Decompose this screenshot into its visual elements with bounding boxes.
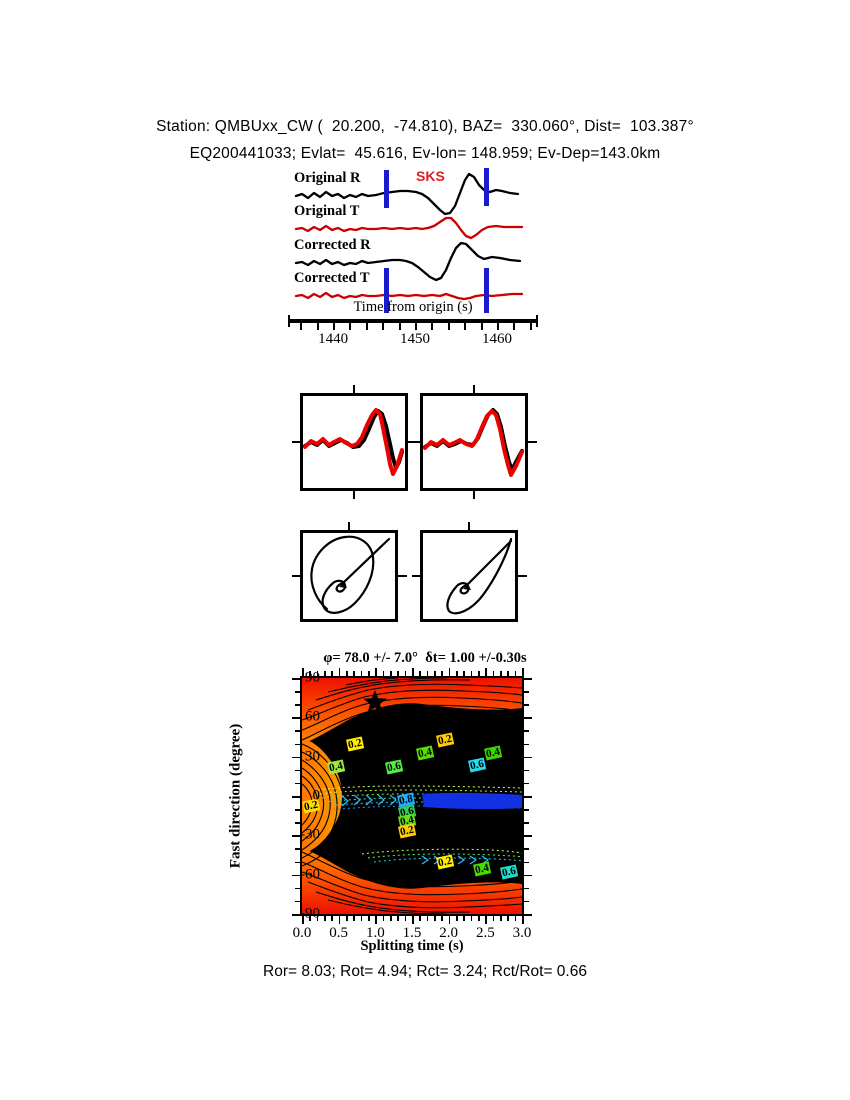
comparison-panel-left [300, 393, 408, 491]
contour-x-tick [390, 916, 392, 921]
comparison-tick-right-s [473, 490, 475, 499]
time-axis-tick [382, 323, 384, 330]
contour-y-tick-label: 0 [313, 788, 321, 805]
comparison-panel-right [420, 393, 528, 491]
contour-x-tick-top [427, 671, 429, 676]
time-axis-tick [333, 323, 335, 330]
contour-x-tick [463, 916, 465, 921]
contour-y-tick-right [524, 796, 532, 798]
hodogram-corrected [423, 533, 515, 619]
time-axis-tick [431, 323, 433, 330]
contour-x-tick-top [463, 671, 465, 676]
contour-y-tick [292, 757, 300, 759]
contour-y-tick-right [524, 862, 529, 864]
contour-x-tick-top [324, 671, 326, 676]
contour-y-tick-label: -30 [300, 827, 320, 844]
time-axis-cap-left [288, 315, 290, 327]
particle-motion-panel-corrected [420, 530, 518, 622]
hodogram-tick-right-e [518, 575, 527, 577]
contour-y-tick-right [524, 848, 529, 850]
comparison-tick-left-n [353, 385, 355, 394]
contour-y-tick-right [524, 835, 532, 837]
contour-y-tick [295, 744, 300, 746]
time-axis-tick [497, 323, 499, 330]
contour-x-tick-top [383, 671, 385, 676]
contour-y-tick-label: 90 [305, 670, 320, 687]
trace-label-original-t: Original T [294, 203, 359, 220]
contour-x-tick-top [331, 671, 333, 676]
time-axis-tick-label: 1450 [400, 331, 430, 348]
contour-x-tick [339, 916, 341, 924]
contour-x-tick [383, 916, 385, 921]
time-axis-tick [415, 323, 417, 330]
contour-plot-frame: 0.20.20.40.40.60.60.40.20.80.60.40.20.20… [300, 676, 524, 916]
contour-x-tick [485, 916, 487, 924]
contour-y-tick-right [524, 704, 529, 706]
figure-page: Station: QMBUxx_CW ( 20.200, -74.810), B… [0, 0, 850, 1100]
comparison-tick-right-n [473, 385, 475, 394]
contour-y-tick-right [524, 691, 529, 693]
contour-x-tick [434, 916, 436, 921]
time-axis-tick [530, 323, 532, 330]
contour-y-tick [295, 901, 300, 903]
contour-x-tick-top [456, 671, 458, 676]
contour-x-tick-top [361, 671, 363, 676]
contour-x-tick-label: 2.5 [476, 925, 495, 942]
contour-x-tick-top [390, 671, 392, 676]
contour-x-tick-label: 3.0 [513, 925, 532, 942]
contour-x-tick [456, 916, 458, 921]
time-axis-tick [349, 323, 351, 330]
contour-x-tick-top [471, 671, 473, 676]
comparison-tick-right-e [528, 441, 537, 443]
contour-x-tick-top [368, 671, 370, 676]
sks-phase-label: SKS [416, 168, 445, 184]
contour-y-tick-right [524, 770, 529, 772]
contour-x-tick-top [507, 671, 509, 676]
contour-x-tick-top [375, 668, 377, 676]
contour-y-tick [292, 796, 300, 798]
contour-x-tick [412, 916, 414, 924]
contour-y-tick-right [524, 730, 529, 732]
contour-y-tick-label: -60 [300, 866, 320, 883]
contour-y-tick-right [524, 809, 529, 811]
contour-y-tick [292, 914, 300, 916]
contour-x-tick-top [353, 671, 355, 676]
contour-value-label: 0.2 [346, 736, 364, 751]
contour-y-tick-right [524, 875, 532, 877]
contour-x-tick [449, 916, 451, 924]
trace-label-original-r: Original R [294, 170, 360, 187]
time-axis-cap-right [536, 315, 538, 327]
contour-x-tick [500, 916, 502, 921]
contour-y-tick-right [524, 914, 532, 916]
contour-x-tick [397, 916, 399, 921]
contour-y-tick [295, 783, 300, 785]
waveform-panel: Original R Original T Corrected R Correc… [288, 168, 538, 318]
contour-x-tick [375, 916, 377, 924]
contour-y-tick-right [524, 678, 532, 680]
contour-y-tick [292, 678, 300, 680]
hodogram-tick-right-n [468, 522, 470, 531]
contour-y-tick [295, 822, 300, 824]
time-axis-tick [300, 323, 302, 330]
comparison-tick-left-s [353, 490, 355, 499]
contour-x-tick-top [346, 671, 348, 676]
contour-x-tick-label: 0.0 [293, 925, 312, 942]
contour-x-tick-top [412, 668, 414, 676]
contour-x-tick [346, 916, 348, 921]
time-axis-tick [481, 323, 483, 330]
contour-x-tick [405, 916, 407, 921]
time-axis-tick [399, 323, 401, 330]
contour-x-tick-top [397, 671, 399, 676]
contour-x-tick [324, 916, 326, 921]
contour-y-tick [295, 730, 300, 732]
time-axis-tick [464, 323, 466, 330]
contour-y-axis-label: Fast direction (degree) [228, 724, 245, 868]
contour-x-tick [427, 916, 429, 921]
hodogram-tick-right-w [412, 575, 421, 577]
contour-y-tick-right [524, 822, 529, 824]
contour-x-tick-top [339, 668, 341, 676]
contour-value-label: 0.2 [436, 854, 454, 869]
contour-y-tick [295, 888, 300, 890]
trace-label-corrected-r: Corrected R [294, 237, 371, 254]
contour-x-tick-label: 2.0 [439, 925, 458, 942]
contour-y-tick-right [524, 901, 529, 903]
contour-plot-title: φ= 78.0 +/- 7.0° δt= 1.00 +/-0.30s [0, 650, 850, 667]
header-line-event: EQ200441033; Evlat= 45.616, Ev-lon= 148.… [0, 145, 850, 163]
comparison-traces-right [423, 396, 525, 488]
contour-y-tick-right [524, 888, 529, 890]
contour-x-tick [419, 916, 421, 921]
trace-label-corrected-t: Corrected T [294, 270, 370, 287]
header-line-station: Station: QMBUxx_CW ( 20.200, -74.810), B… [0, 118, 850, 136]
contour-x-tick-top [419, 671, 421, 676]
contour-y-tick [295, 809, 300, 811]
contour-x-tick [515, 916, 517, 921]
contour-x-tick-top [441, 671, 443, 676]
contour-x-tick-top [493, 671, 495, 676]
contour-x-tick [507, 916, 509, 921]
contour-x-tick [353, 916, 355, 921]
contour-y-tick-right [524, 717, 532, 719]
contour-y-tick [292, 875, 300, 877]
contour-y-tick [295, 704, 300, 706]
contour-x-tick-top [485, 668, 487, 676]
quality-metrics-footer: Ror= 8.03; Rot= 4.94; Rct= 3.24; Rct/Rot… [0, 963, 850, 981]
contour-y-tick-right [524, 783, 529, 785]
contour-x-tick [441, 916, 443, 921]
contour-x-tick-top [434, 671, 436, 676]
contour-x-tick-top [500, 671, 502, 676]
contour-plot[interactable]: 0.20.20.40.40.60.60.40.20.80.60.40.20.20… [300, 676, 524, 916]
contour-x-tick [368, 916, 370, 921]
hodogram-tick-left-n [348, 522, 350, 531]
time-axis-tick [513, 323, 515, 330]
time-axis-tick-label: 1440 [318, 331, 348, 348]
hodogram-tick-left-w [292, 575, 301, 577]
contour-x-tick [478, 916, 480, 921]
contour-x-tick-top [302, 668, 304, 676]
time-axis-tick [448, 323, 450, 330]
hodogram-uncorrected [303, 533, 395, 619]
contour-x-tick-label: 1.5 [403, 925, 422, 942]
time-axis-line [288, 319, 538, 323]
contour-y-tick [295, 848, 300, 850]
contour-x-tick-top [405, 671, 407, 676]
contour-y-tick [295, 862, 300, 864]
time-axis: Time from origin (s) 144014501460 [288, 305, 540, 360]
comparison-tick-left-w [292, 441, 301, 443]
contour-value-label: 0.6 [468, 757, 486, 772]
contour-x-tick-top [449, 668, 451, 676]
contour-y-tick-right [524, 744, 529, 746]
contour-y-tick-label: -90 [300, 906, 320, 923]
contour-y-tick-right [524, 757, 532, 759]
contour-x-tick-label: 1.0 [366, 925, 385, 942]
contour-x-tick [493, 916, 495, 921]
contour-x-tick [361, 916, 363, 921]
contour-x-tick [471, 916, 473, 921]
particle-motion-panel-uncorrected [300, 530, 398, 622]
contour-x-tick-top [478, 671, 480, 676]
contour-y-tick [295, 691, 300, 693]
time-axis-tick [366, 323, 368, 330]
phase-window-start-marker-1[interactable] [384, 170, 389, 208]
time-axis-tick [317, 323, 319, 330]
contour-y-tick [292, 717, 300, 719]
time-axis-tick-label: 1460 [482, 331, 512, 348]
contour-y-tick-label: 30 [305, 748, 320, 765]
contour-x-tick [331, 916, 333, 921]
contour-y-tick-label: 60 [305, 709, 320, 726]
contour-x-tick-label: 0.5 [329, 925, 348, 942]
comparison-traces-left [303, 396, 405, 488]
phase-window-end-marker-1[interactable] [484, 168, 489, 206]
hodogram-tick-left-e [398, 575, 407, 577]
time-axis-title: Time from origin (s) [288, 299, 538, 316]
comparison-tick-right-w [412, 441, 421, 443]
contour-x-tick [522, 916, 524, 924]
contour-y-tick [292, 835, 300, 837]
contour-x-tick-top [515, 671, 517, 676]
contour-x-tick-top [522, 668, 524, 676]
contour-y-tick [295, 770, 300, 772]
